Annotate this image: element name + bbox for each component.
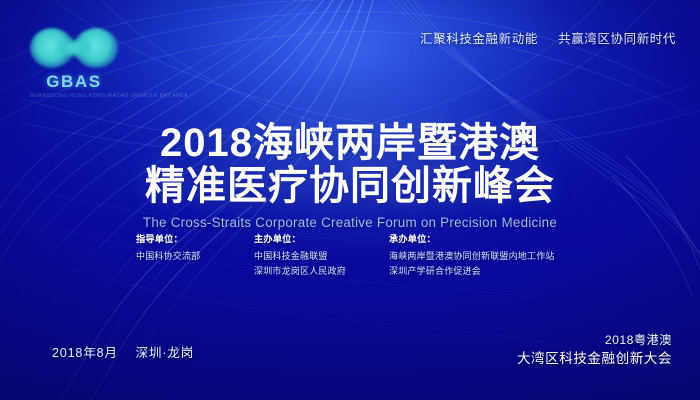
organizer-columns: 指导单位： 中国科协交流部 主办单位： 中国科技金融联盟 深圳市龙岗区人民政府 … xyxy=(136,231,555,278)
organizer-column-guidance: 指导单位： 中国科协交流部 xyxy=(136,231,254,264)
organizer-item: 中国科技金融联盟 xyxy=(254,249,389,264)
organizer-column-host: 主办单位： 中国科技金融联盟 深圳市龙岗区人民政府 xyxy=(254,231,389,278)
footer-date-location: 2018年8月 深圳·龙岗 xyxy=(52,342,194,361)
footer-event-line-2: 大湾区科技金融创新大会 xyxy=(517,349,672,369)
event-poster: GBAS GUANGDONG-HONG KONG-MACAO GREATER B… xyxy=(0,0,700,400)
subtitle-english: The Cross-Straits Corporate Creative For… xyxy=(0,215,700,230)
tagline-part1: 汇聚科技金融新动能 xyxy=(420,32,538,46)
gbas-bowtie-icon xyxy=(30,26,118,70)
organizer-item: 海峡两岸暨港澳协同创新联盟内地工作站 xyxy=(389,249,555,264)
gbas-logo-label: GBAS xyxy=(30,72,118,92)
top-tagline: 汇聚科技金融新动能 共赢湾区协同新时代 xyxy=(420,28,676,47)
organizer-heading: 主办单位： xyxy=(254,231,389,245)
organizer-column-organizer: 承办单位： 海峡两岸暨港澳协同创新联盟内地工作站 深圳产学研合作促进会 xyxy=(389,231,555,278)
title-line-2: 精准医疗协同创新峰会 xyxy=(0,165,700,208)
footer-event-name: 2018粤港澳 大湾区科技金融创新大会 xyxy=(517,332,672,369)
organizer-heading: 承办单位： xyxy=(389,231,555,245)
title-block: 2018海峡两岸暨港澳 精准医疗协同创新峰会 The Cross-Straits… xyxy=(0,122,700,230)
organizer-heading: 指导单位： xyxy=(136,231,254,245)
footer-location: 深圳·龙岗 xyxy=(135,346,194,360)
footer-date: 2018年8月 xyxy=(52,346,118,360)
organizer-item: 中国科协交流部 xyxy=(136,249,254,264)
footer-event-line-1: 2018粤港澳 xyxy=(517,332,672,350)
organizer-item: 深圳市龙岗区人民政府 xyxy=(254,264,389,279)
gbas-logo: GBAS GUANGDONG-HONG KONG-MACAO GREATER B… xyxy=(30,26,118,99)
gbas-logo-sublabel: GUANGDONG-HONG KONG-MACAO GREATER BAY AR… xyxy=(30,93,118,99)
organizer-item: 深圳产学研合作促进会 xyxy=(389,264,555,279)
tagline-part2: 共赢湾区协同新时代 xyxy=(558,32,676,46)
title-line-1: 2018海峡两岸暨港澳 xyxy=(0,122,700,165)
